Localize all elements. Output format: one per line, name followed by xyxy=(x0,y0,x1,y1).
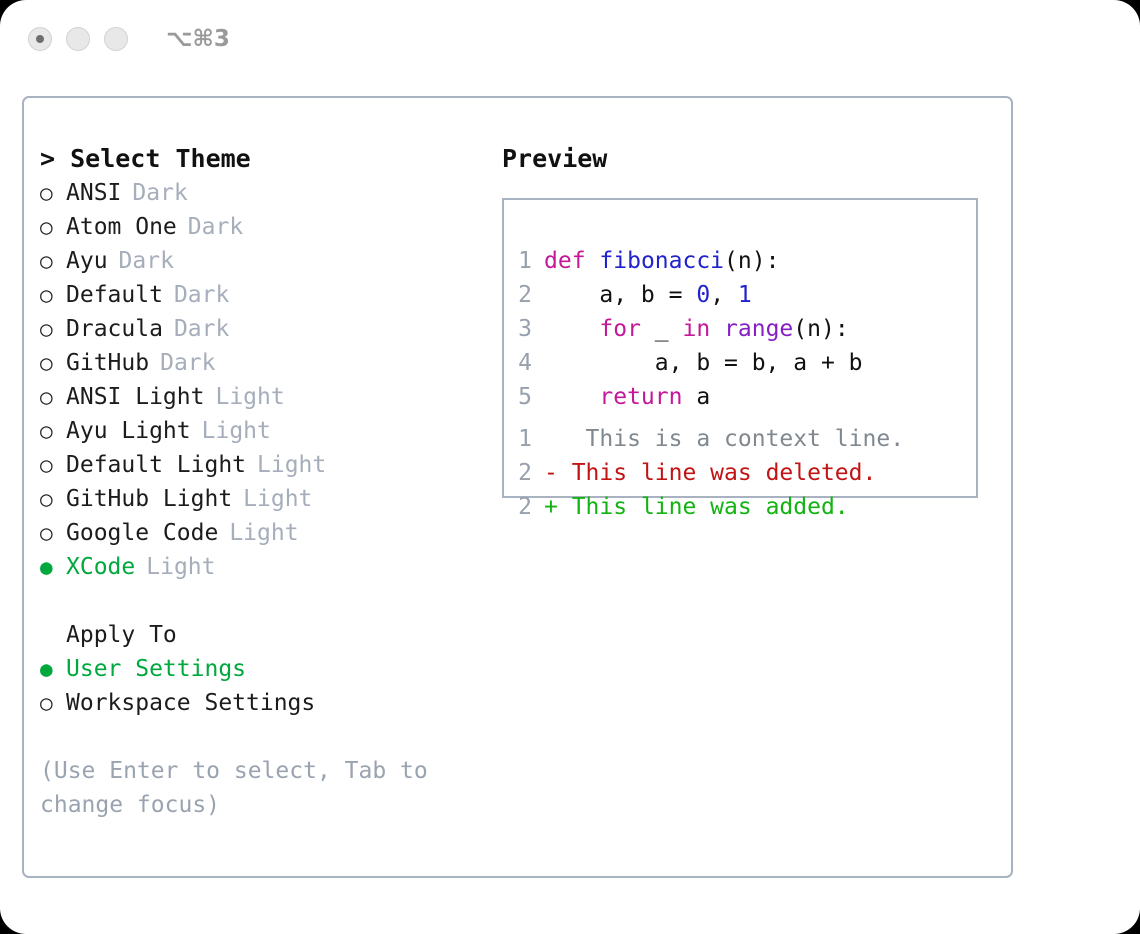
diff-line-number: 2 xyxy=(518,490,532,524)
radio-selected-icon: ● xyxy=(40,550,66,584)
diff-line: 1 This is a context line. xyxy=(518,422,904,456)
theme-kind-label: Dark xyxy=(132,176,187,210)
theme-row[interactable]: ○ANSI LightLight xyxy=(40,380,480,414)
theme-row[interactable]: ○Ayu LightLight xyxy=(40,414,480,448)
diff-line: 2+ This line was added. xyxy=(518,490,904,524)
theme-list[interactable]: ○ANSIDark○Atom OneDark○AyuDark○DefaultDa… xyxy=(40,176,480,584)
theme-name: Ayu xyxy=(66,244,108,278)
diff-sign: - xyxy=(544,460,558,486)
diff-sign: + xyxy=(544,494,558,520)
radio-unselected-icon: ○ xyxy=(40,278,66,312)
code-line-number: 3 xyxy=(518,312,532,346)
theme-kind-label: Dark xyxy=(119,244,174,278)
code-line-number: 2 xyxy=(518,278,532,312)
title-bar: ⌥⌘3 xyxy=(0,0,1140,78)
theme-name: Atom One xyxy=(66,210,177,244)
radio-unselected-icon: ○ xyxy=(40,176,66,210)
theme-row[interactable]: ○DefaultDark xyxy=(40,278,480,312)
diff-sign xyxy=(544,426,558,452)
theme-kind-label: Light xyxy=(243,482,312,516)
apply-to-option[interactable]: ●User Settings xyxy=(40,652,480,686)
radio-unselected-icon: ○ xyxy=(40,482,66,516)
theme-row[interactable]: ●XCodeLight xyxy=(40,550,480,584)
theme-name: ANSI Light xyxy=(66,380,204,414)
code-token xyxy=(586,248,600,274)
recording-dot-icon[interactable] xyxy=(28,27,52,51)
code-token: in xyxy=(682,316,710,342)
theme-name: Ayu Light xyxy=(66,414,191,448)
code-token: a xyxy=(682,384,710,410)
radio-unselected-icon: ○ xyxy=(40,380,66,414)
diff-sample: 1 This is a context line.2- This line wa… xyxy=(518,422,904,524)
theme-kind-label: Light xyxy=(202,414,271,448)
apply-to-section: Apply To ●User Settings○Workspace Settin… xyxy=(40,618,480,720)
apply-to-option-label: Workspace Settings xyxy=(66,686,315,720)
theme-kind-label: Dark xyxy=(188,210,243,244)
code-line-number: 4 xyxy=(518,346,532,380)
diff-text: This is a context line. xyxy=(558,426,904,452)
code-token xyxy=(544,384,599,410)
theme-name: Google Code xyxy=(66,516,218,550)
code-token xyxy=(544,316,599,342)
theme-kind-label: Dark xyxy=(174,278,229,312)
apply-to-option-label: User Settings xyxy=(66,652,246,686)
code-token: (n): xyxy=(724,248,779,274)
preview-box: 1def fibonacci(n):2 a, b = 0, 13 for _ i… xyxy=(502,198,978,498)
keyboard-shortcut-label: ⌥⌘3 xyxy=(166,26,230,52)
code-line-number: 1 xyxy=(518,244,532,278)
code-token: range xyxy=(724,316,793,342)
theme-kind-label: Light xyxy=(146,550,215,584)
app-window: ⌥⌘3 > Select Theme ○ANSIDark○Atom OneDar… xyxy=(0,0,1140,934)
radio-selected-icon: ● xyxy=(40,652,66,686)
window-dot-2-icon[interactable] xyxy=(66,27,90,51)
theme-name: Default Light xyxy=(66,448,246,482)
radio-unselected-icon: ○ xyxy=(40,516,66,550)
theme-row[interactable]: ○AyuDark xyxy=(40,244,480,278)
apply-to-option[interactable]: ○Workspace Settings xyxy=(40,686,480,720)
code-token: return xyxy=(599,384,682,410)
window-controls xyxy=(28,27,128,51)
radio-unselected-icon: ○ xyxy=(40,448,66,482)
diff-line: 2- This line was deleted. xyxy=(518,456,904,490)
code-line: 2 a, b = 0, 1 xyxy=(518,278,863,312)
code-line: 3 for _ in range(n): xyxy=(518,312,863,346)
code-line: 1def fibonacci(n): xyxy=(518,244,863,278)
code-token: , xyxy=(710,282,738,308)
theme-kind-label: Dark xyxy=(174,312,229,346)
theme-row[interactable]: ○Google CodeLight xyxy=(40,516,480,550)
code-line-number: 5 xyxy=(518,380,532,414)
radio-unselected-icon: ○ xyxy=(40,312,66,346)
code-token: def xyxy=(544,248,586,274)
theme-name: Dracula xyxy=(66,312,163,346)
theme-row[interactable]: ○Atom OneDark xyxy=(40,210,480,244)
theme-kind-label: Light xyxy=(215,380,284,414)
theme-row[interactable]: ○DraculaDark xyxy=(40,312,480,346)
code-token: _ xyxy=(641,316,683,342)
theme-row[interactable]: ○Default LightLight xyxy=(40,448,480,482)
theme-selector-column: > Select Theme ○ANSIDark○Atom OneDark○Ay… xyxy=(40,142,480,822)
diff-line-number: 2 xyxy=(518,456,532,490)
radio-unselected-icon: ○ xyxy=(40,686,66,720)
theme-row[interactable]: ○GitHubDark xyxy=(40,346,480,380)
theme-kind-label: Light xyxy=(257,448,326,482)
code-token: fibonacci xyxy=(599,248,724,274)
code-line: 5 return a xyxy=(518,380,863,414)
code-line: 4 a, b = b, a + b xyxy=(518,346,863,380)
diff-text: This line was deleted. xyxy=(558,460,877,486)
diff-line-number: 1 xyxy=(518,422,532,456)
main-panel: > Select Theme ○ANSIDark○Atom OneDark○Ay… xyxy=(22,96,1013,878)
theme-name: GitHub Light xyxy=(66,482,232,516)
theme-kind-label: Dark xyxy=(160,346,215,380)
apply-to-options[interactable]: ●User Settings○Workspace Settings xyxy=(40,652,480,720)
code-token: (n): xyxy=(793,316,848,342)
theme-name: ANSI xyxy=(66,176,121,210)
radio-unselected-icon: ○ xyxy=(40,210,66,244)
code-token: a, b = b, a + b xyxy=(544,350,863,376)
code-token xyxy=(710,316,724,342)
window-dot-3-icon[interactable] xyxy=(104,27,128,51)
preview-column: Preview 1def fibonacci(n):2 a, b = 0, 13… xyxy=(502,142,992,498)
recording-dot-inner xyxy=(36,35,44,43)
theme-name: XCode xyxy=(66,550,135,584)
preview-heading: Preview xyxy=(502,142,992,176)
radio-unselected-icon: ○ xyxy=(40,414,66,448)
code-token: 1 xyxy=(738,282,752,308)
select-theme-heading: > Select Theme xyxy=(40,142,480,176)
theme-row[interactable]: ○ANSIDark xyxy=(40,176,480,210)
theme-kind-label: Light xyxy=(229,516,298,550)
theme-row[interactable]: ○GitHub LightLight xyxy=(40,482,480,516)
radio-unselected-icon: ○ xyxy=(40,346,66,380)
apply-to-heading: Apply To xyxy=(40,618,480,652)
diff-text: This line was added. xyxy=(558,494,849,520)
radio-unselected-icon: ○ xyxy=(40,244,66,278)
keyboard-hint-text: (Use Enter to select, Tab to change focu… xyxy=(40,754,440,822)
theme-name: Default xyxy=(66,278,163,312)
theme-name: GitHub xyxy=(66,346,149,380)
code-token: for xyxy=(599,316,641,342)
code-token: 0 xyxy=(696,282,710,308)
code-sample: 1def fibonacci(n):2 a, b = 0, 13 for _ i… xyxy=(518,244,863,414)
code-token: a, b = xyxy=(544,282,696,308)
